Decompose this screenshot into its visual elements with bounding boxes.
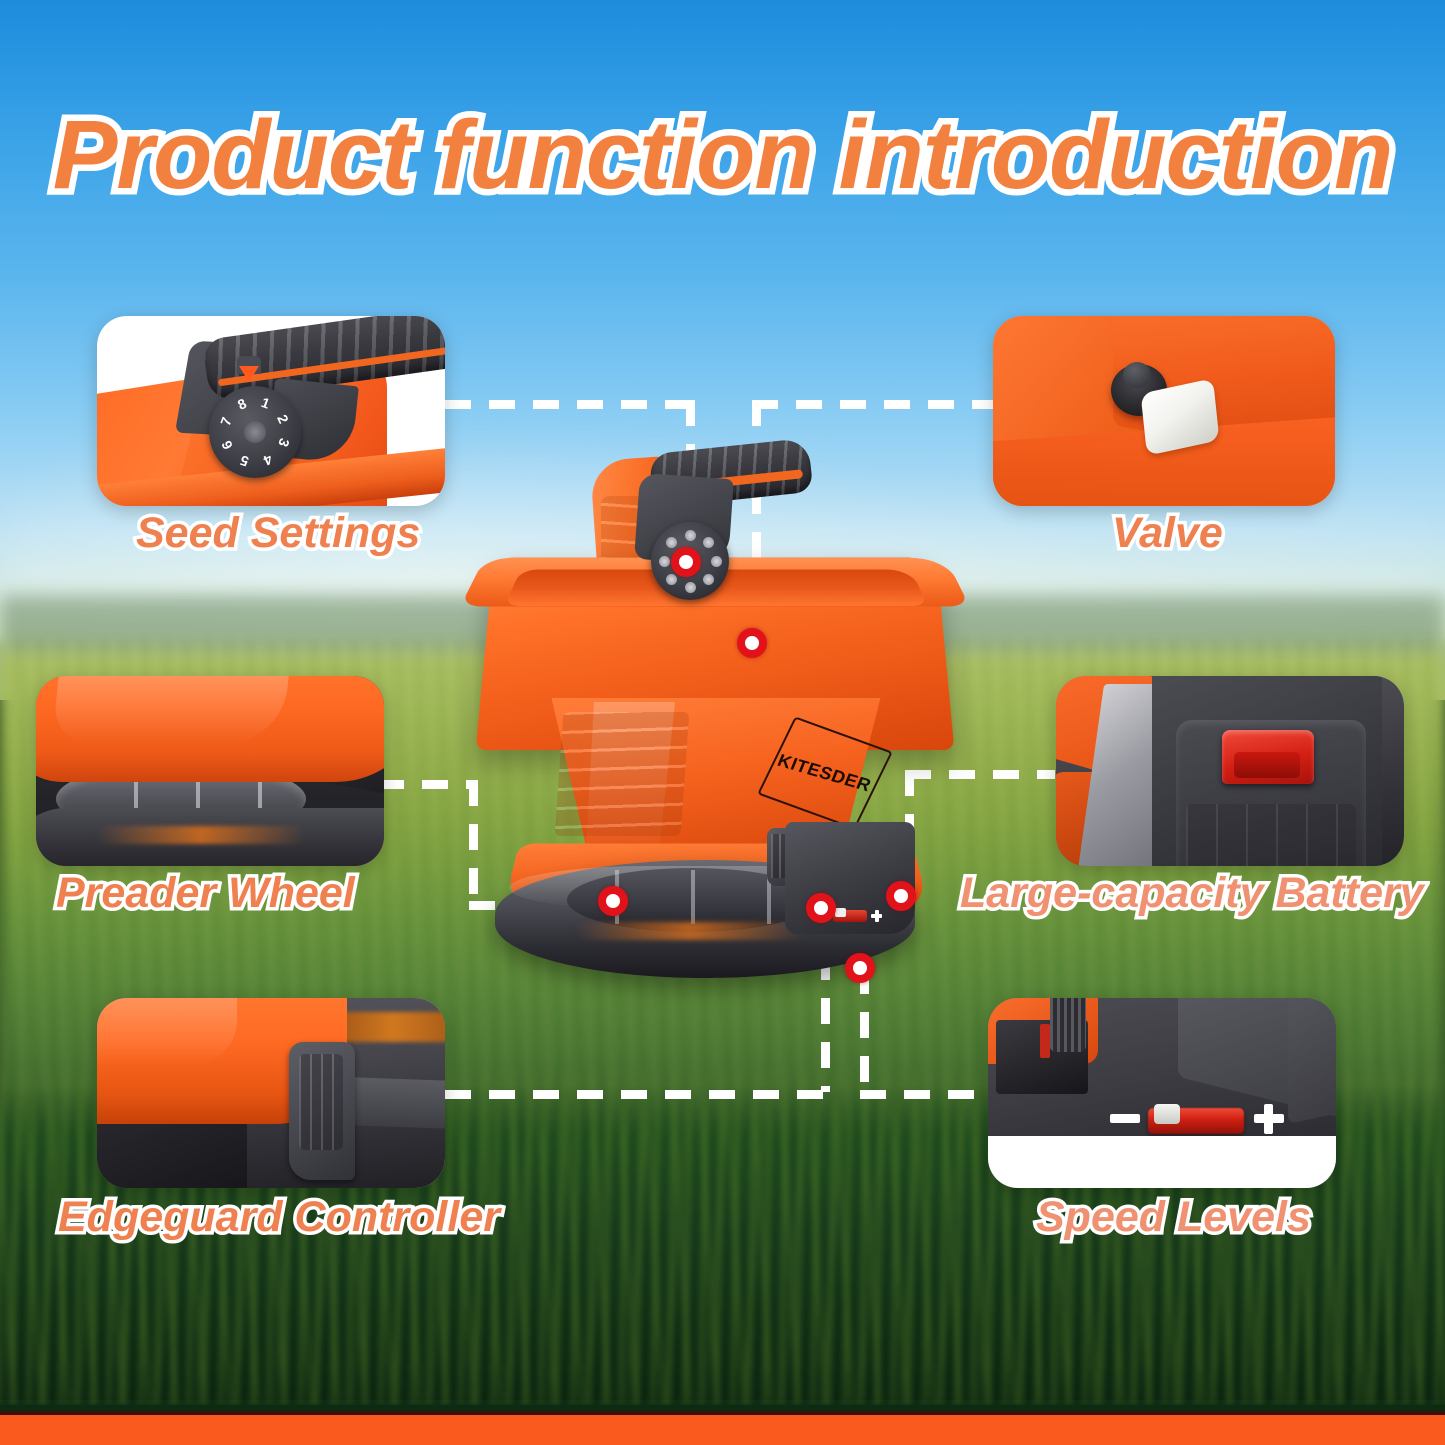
dial-number: 2 bbox=[271, 407, 295, 431]
product-cone-ribs bbox=[555, 712, 690, 836]
seed-settings-photo: 12345678 bbox=[97, 316, 445, 506]
product-spreader-image: KITESDER bbox=[455, 430, 995, 990]
photo-facet-2 bbox=[1288, 998, 1336, 1124]
photo-plate-highlight bbox=[52, 676, 291, 744]
callout-card-preader-wheel[interactable] bbox=[36, 676, 384, 866]
minus-icon bbox=[1110, 1114, 1140, 1123]
caption-valve: Valve bbox=[1112, 512, 1223, 555]
photo-dial-hub bbox=[244, 421, 266, 443]
photo-red-accent bbox=[1040, 1024, 1050, 1058]
caption-edgeguard: Edgeguard Controller bbox=[58, 1196, 500, 1239]
plus-icon bbox=[1264, 1104, 1273, 1134]
photo-valve-knob-top bbox=[1123, 362, 1151, 388]
dial-number: 5 bbox=[233, 450, 256, 473]
photo-speed-slider-knob bbox=[1154, 1104, 1180, 1124]
caption-preader-wheel: Preader Wheel bbox=[56, 872, 355, 915]
photo-deck-highlight bbox=[97, 998, 237, 1066]
callout-card-battery[interactable] bbox=[1056, 676, 1404, 866]
bottom-orange-strip bbox=[0, 1411, 1445, 1445]
dial-number: 3 bbox=[273, 431, 296, 454]
photo-battery-ribs bbox=[1186, 804, 1356, 866]
dial-dot bbox=[703, 537, 714, 548]
speed-levels-photo bbox=[988, 998, 1336, 1188]
dial-dot bbox=[666, 574, 677, 585]
dial-dot bbox=[685, 582, 696, 593]
product-disc-fin bbox=[691, 870, 695, 924]
marker-valve bbox=[737, 628, 767, 658]
callout-card-edgeguard[interactable] bbox=[97, 998, 445, 1188]
valve-photo bbox=[993, 316, 1335, 506]
photo-lever-ribs bbox=[299, 1054, 343, 1150]
photo-dial-pointer bbox=[239, 366, 259, 382]
product-speed-slider-knob bbox=[835, 908, 846, 917]
marker-battery bbox=[886, 881, 916, 911]
product-under-glow bbox=[575, 922, 805, 940]
dial-number: 8 bbox=[230, 392, 254, 416]
dial-dot bbox=[685, 530, 696, 541]
product-plus-icon bbox=[875, 910, 879, 922]
dial-dot bbox=[703, 574, 714, 585]
photo-white-base bbox=[988, 1136, 1336, 1188]
photo-under-glow bbox=[96, 826, 306, 844]
caption-speed-levels: Speed Levels bbox=[1036, 1196, 1311, 1239]
photo-seed-dial: 12345678 bbox=[209, 386, 301, 478]
callout-card-seed-settings[interactable]: 12345678 bbox=[97, 316, 445, 506]
dial-number: 6 bbox=[215, 433, 239, 457]
photo-release-inner bbox=[1234, 752, 1300, 778]
callout-card-valve[interactable] bbox=[993, 316, 1335, 506]
dial-number: 1 bbox=[254, 391, 277, 414]
dial-dot bbox=[666, 537, 677, 548]
dial-number: 7 bbox=[214, 410, 237, 433]
preader-wheel-photo bbox=[36, 676, 384, 866]
caption-battery: Large-capacity Battery bbox=[960, 872, 1424, 915]
marker-preader-wheel bbox=[598, 886, 628, 916]
product-brand-text: KITESDER bbox=[775, 750, 875, 796]
page-title: Product function introduction bbox=[0, 104, 1445, 206]
callout-card-speed-levels[interactable] bbox=[988, 998, 1336, 1188]
photo-cable bbox=[1050, 998, 1086, 1052]
battery-photo bbox=[1056, 676, 1404, 866]
edgeguard-photo bbox=[97, 998, 445, 1188]
marker-edgeguard bbox=[806, 893, 836, 923]
dial-number: 4 bbox=[256, 448, 280, 472]
dial-dot bbox=[659, 556, 670, 567]
infographic-stage: Product function introduction K bbox=[0, 0, 1445, 1445]
dial-dot bbox=[711, 556, 722, 567]
marker-seed-settings bbox=[671, 547, 701, 577]
caption-seed-settings: Seed Settings bbox=[136, 512, 420, 555]
marker-speed-levels bbox=[845, 953, 875, 983]
